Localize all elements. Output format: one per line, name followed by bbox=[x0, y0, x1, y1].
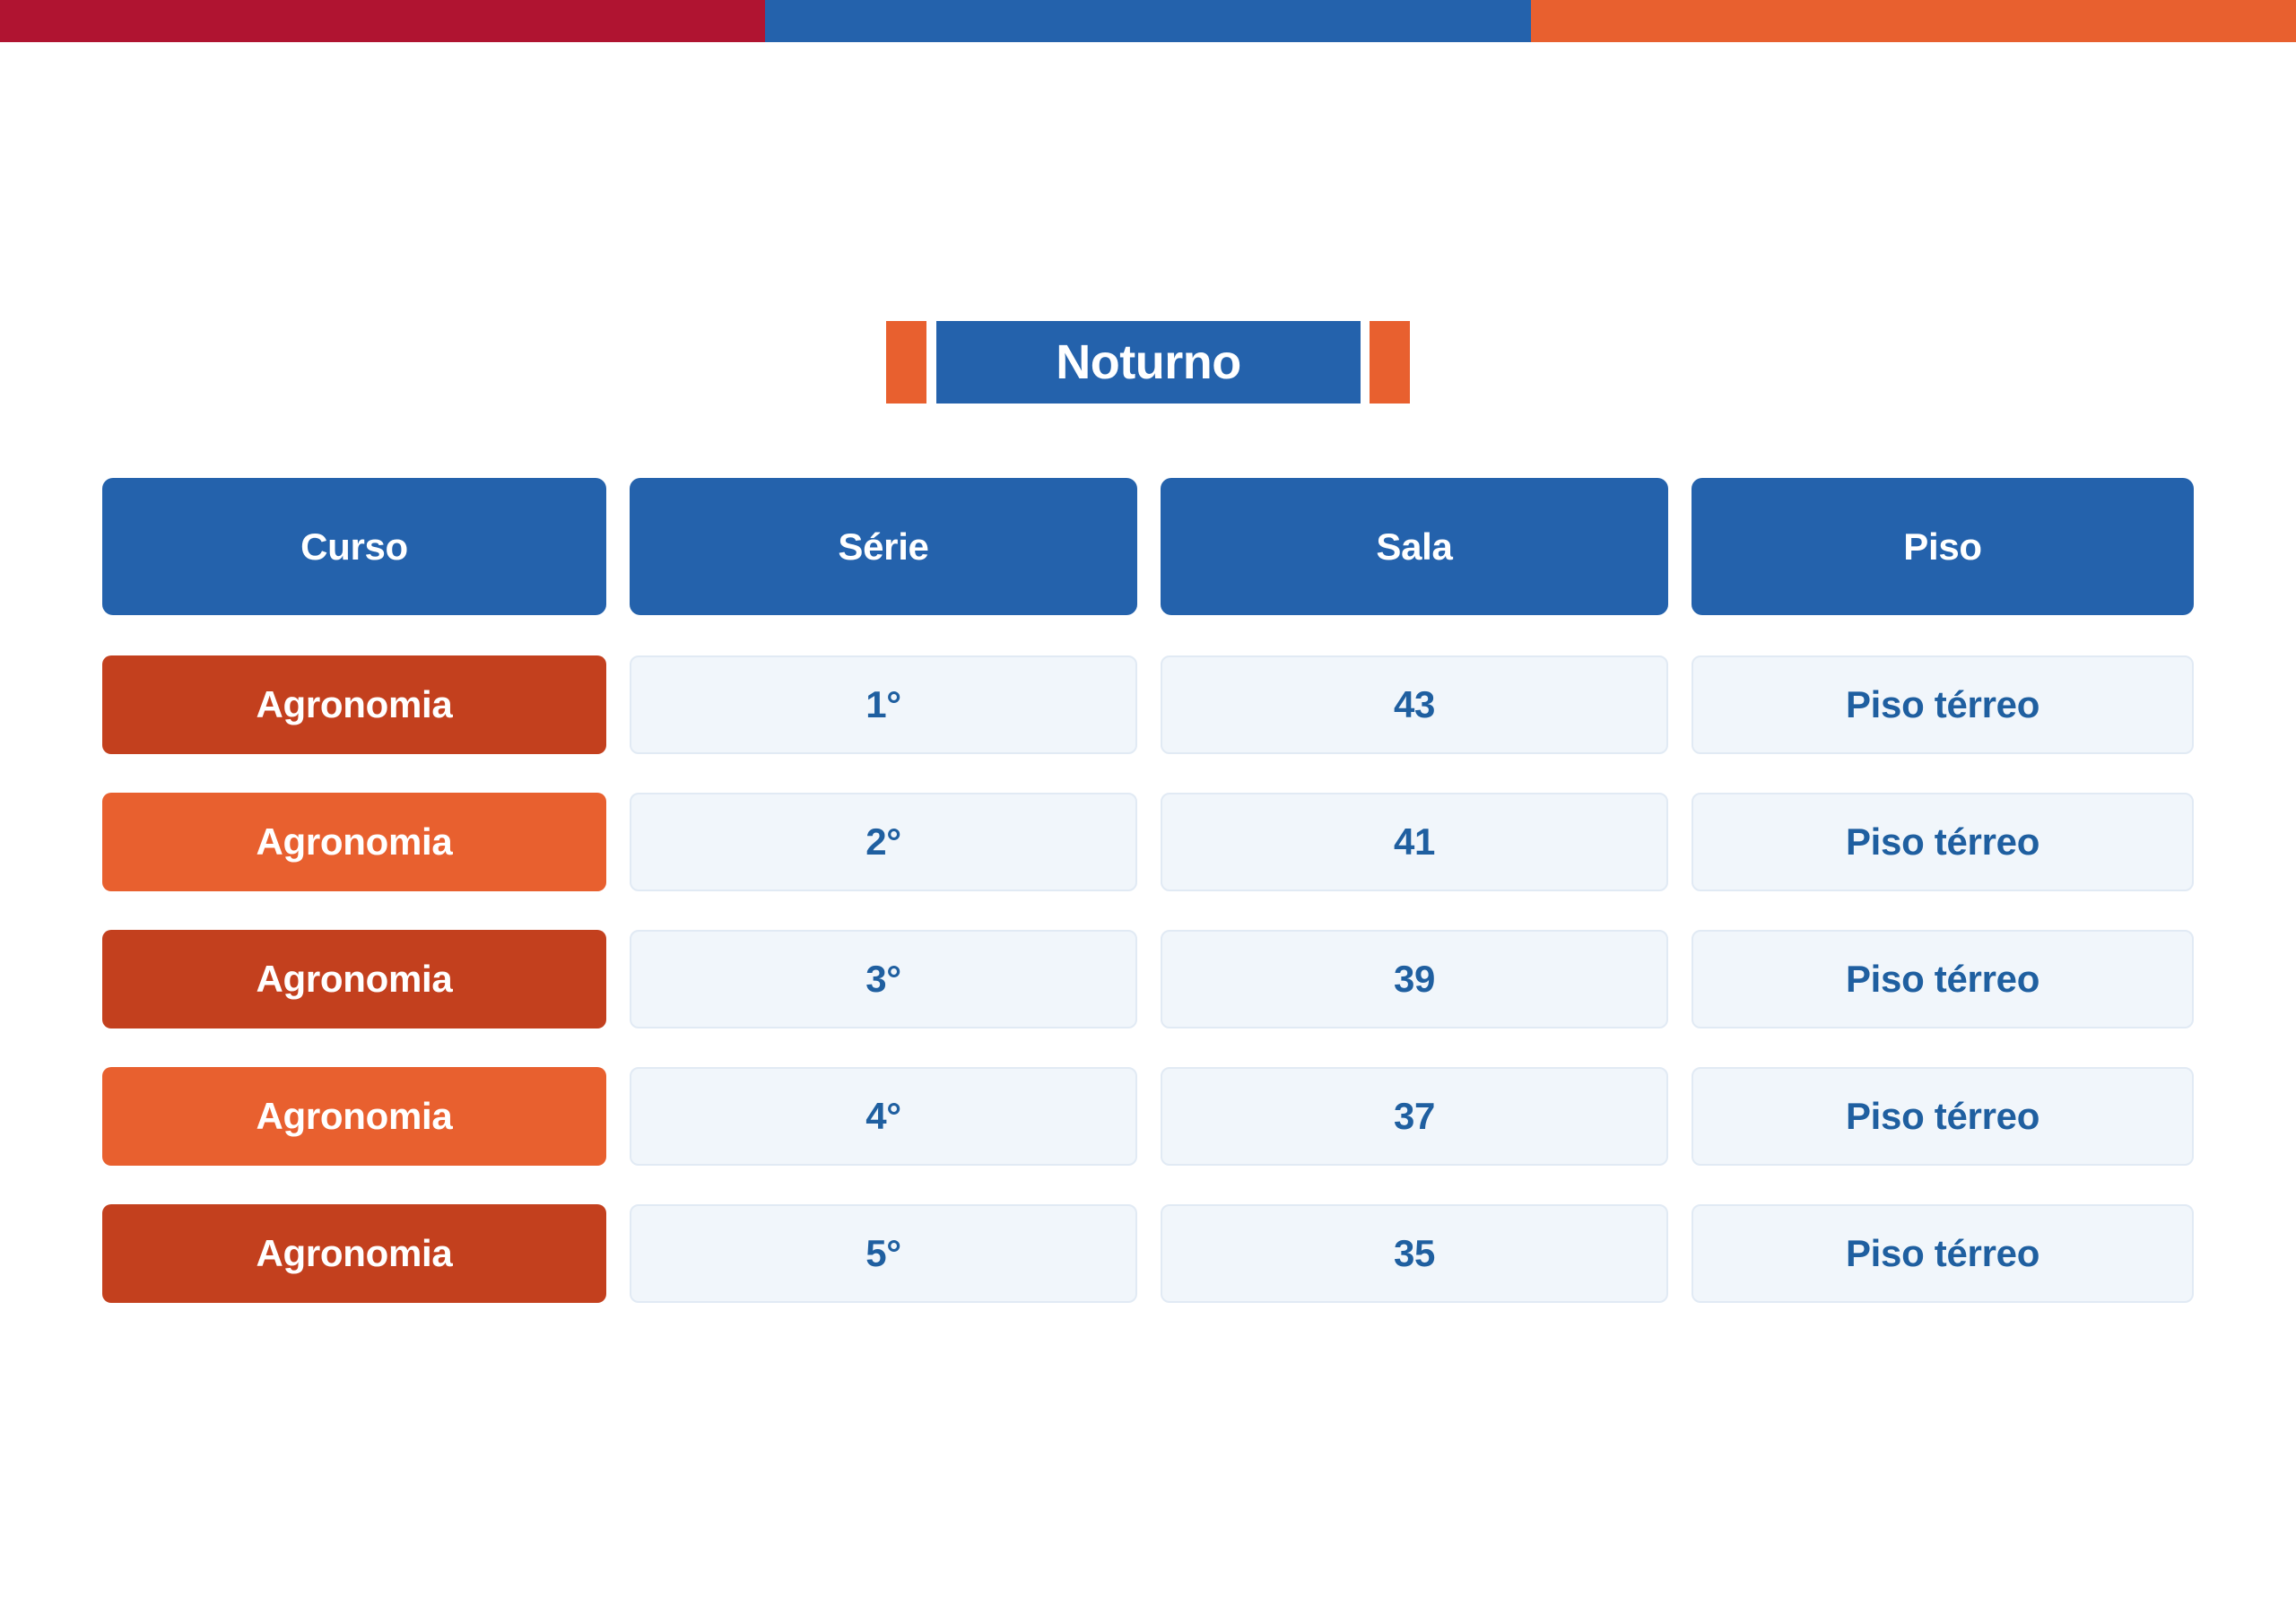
column-header-sala: Sala bbox=[1161, 478, 1668, 615]
cell-piso: Piso térreo bbox=[1692, 1204, 2194, 1303]
column-header-piso: Piso bbox=[1692, 478, 2194, 615]
cell-serie: 2° bbox=[630, 793, 1137, 891]
top-color-bar bbox=[0, 0, 2296, 42]
top-bar-segment-orange bbox=[1531, 0, 2296, 42]
cell-piso: Piso térreo bbox=[1692, 1067, 2194, 1166]
cell-sala: 43 bbox=[1161, 655, 1668, 754]
table-row: Agronomia 1° 43 Piso térreo bbox=[102, 655, 2194, 754]
cell-serie: 5° bbox=[630, 1204, 1137, 1303]
column-header-serie: Série bbox=[630, 478, 1137, 615]
table-row: Agronomia 5° 35 Piso térreo bbox=[102, 1204, 2194, 1303]
cell-piso: Piso térreo bbox=[1692, 930, 2194, 1028]
top-bar-segment-blue bbox=[765, 0, 1531, 42]
cell-serie: 1° bbox=[630, 655, 1137, 754]
cell-curso: Agronomia bbox=[102, 793, 606, 891]
cell-sala: 41 bbox=[1161, 793, 1668, 891]
cell-piso: Piso térreo bbox=[1692, 655, 2194, 754]
table-header-row: Curso Série Sala Piso bbox=[102, 478, 2194, 615]
table-row: Agronomia 2° 41 Piso térreo bbox=[102, 793, 2194, 891]
cell-curso: Agronomia bbox=[102, 1204, 606, 1303]
section-title-plate: Noturno bbox=[936, 321, 1361, 404]
table-row: Agronomia 3° 39 Piso térreo bbox=[102, 930, 2194, 1028]
column-header-curso: Curso bbox=[102, 478, 606, 615]
cell-curso: Agronomia bbox=[102, 1067, 606, 1166]
cell-curso: Agronomia bbox=[102, 655, 606, 754]
cell-sala: 35 bbox=[1161, 1204, 1668, 1303]
top-bar-segment-red bbox=[0, 0, 765, 42]
schedule-table: Curso Série Sala Piso Agronomia 1° 43 Pi… bbox=[102, 478, 2194, 1303]
title-accent-left-bar bbox=[886, 321, 926, 404]
cell-serie: 3° bbox=[630, 930, 1137, 1028]
table-row: Agronomia 4° 37 Piso térreo bbox=[102, 1067, 2194, 1166]
title-accent-right-bar bbox=[1370, 321, 1410, 404]
cell-sala: 37 bbox=[1161, 1067, 1668, 1166]
cell-piso: Piso térreo bbox=[1692, 793, 2194, 891]
cell-curso: Agronomia bbox=[102, 930, 606, 1028]
cell-sala: 39 bbox=[1161, 930, 1668, 1028]
section-title-badge: Noturno bbox=[886, 321, 1410, 404]
cell-serie: 4° bbox=[630, 1067, 1137, 1166]
section-title-text: Noturno bbox=[1056, 338, 1240, 386]
